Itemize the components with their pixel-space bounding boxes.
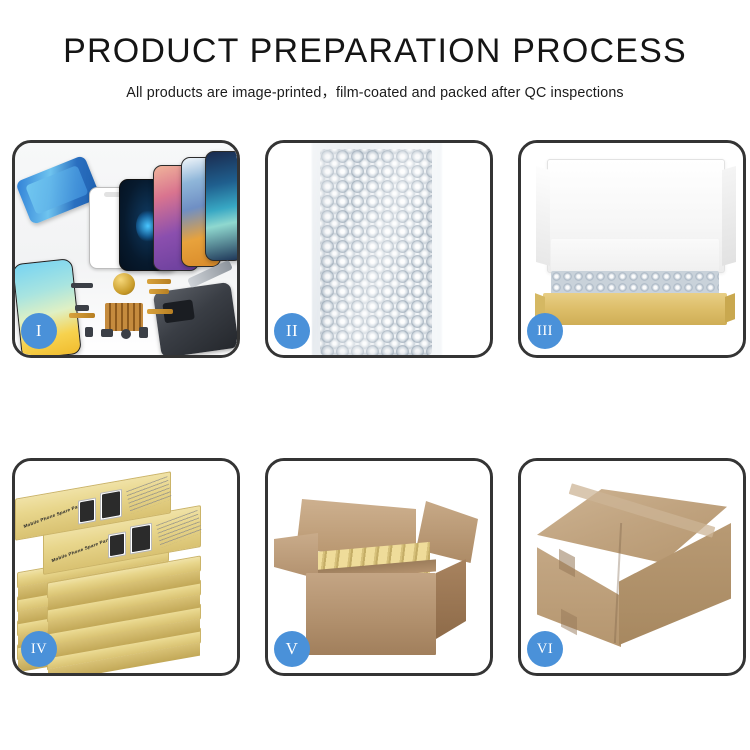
box-spec-lines-back — [126, 476, 172, 514]
process-step-panel-4: Mobile Phone Spare Parts Mobile Phone Sp… — [12, 458, 240, 676]
page-title: PRODUCT PREPARATION PROCESS — [0, 34, 750, 70]
part-vibrator-coil-icon — [113, 273, 135, 295]
step-badge-5: V — [274, 631, 310, 667]
spare-parts-group — [71, 275, 189, 355]
part-flex-cable-1-icon — [147, 279, 171, 284]
process-step-panel-6: VI — [518, 458, 746, 676]
part-earpiece-icon — [71, 283, 93, 288]
part-antenna-icon — [75, 305, 89, 311]
process-step-panel-2: II — [265, 140, 493, 358]
step-badge-3: III — [527, 313, 563, 349]
part-connector-grid-icon — [105, 303, 143, 331]
box-art-screen-1 — [108, 531, 126, 558]
process-step-panel-3: III — [518, 140, 746, 358]
step-badge-6: VI — [527, 631, 563, 667]
carton-front-face-icon — [306, 573, 436, 655]
part-button-1-icon — [85, 327, 93, 337]
process-step-panel-5: V — [265, 458, 493, 676]
part-flex-cable-3-icon — [69, 313, 95, 318]
part-camera-icon — [139, 327, 148, 338]
part-button-2-icon — [101, 329, 113, 337]
process-step-grid: I II III — [12, 140, 738, 676]
box-spec-lines-front — [156, 510, 202, 548]
box-art-screen-2 — [130, 523, 152, 555]
phone-teal-display-icon — [205, 151, 237, 261]
page-header: PRODUCT PREPARATION PROCESS All products… — [0, 0, 750, 102]
carton-side-face-icon — [436, 559, 466, 639]
box-art-screen-3 — [78, 497, 96, 524]
step-badge-4: IV — [21, 631, 57, 667]
foam-padding-icon — [551, 239, 719, 275]
product-preparation-page: PRODUCT PREPARATION PROCESS All products… — [0, 0, 750, 750]
part-flex-cable-4-icon — [147, 309, 173, 314]
kraft-box-base-icon — [543, 293, 727, 325]
step-badge-1: I — [21, 313, 57, 349]
part-speaker-icon — [121, 329, 131, 339]
box-label-front: Mobile Phone Spare Parts — [51, 536, 112, 563]
plastic-sheen-overlay — [312, 143, 442, 355]
process-step-panel-1: I — [12, 140, 240, 358]
step-badge-2: II — [274, 313, 310, 349]
box-label-back: Mobile Phone Spare Parts — [23, 502, 84, 529]
page-subtitle: All products are image-printed，film-coat… — [0, 81, 750, 102]
box-art-screen-4 — [100, 489, 122, 521]
part-flex-cable-2-icon — [149, 289, 169, 294]
